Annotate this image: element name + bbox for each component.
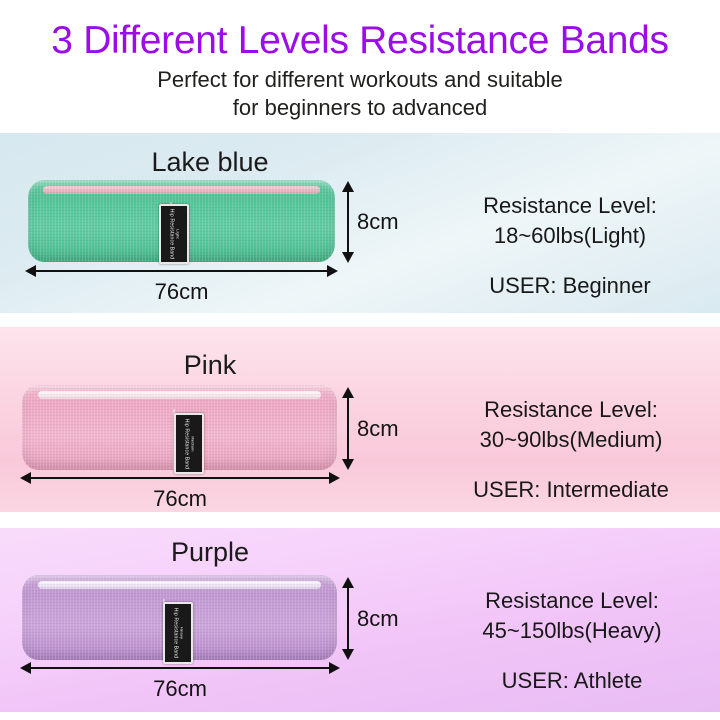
length-dimension-label: 76cm [25,278,338,306]
product-color-name-purple: Purple [90,536,330,568]
product-tag-text: Medium Hip Resistance Band [182,418,196,469]
resistance-value: 18~60lbs(Light) [430,221,710,251]
product-section-pink: Pink Medium Hip Resistance Band 8cm 76 [0,327,720,512]
header: 3 Different Levels Resistance Bands Perf… [0,0,720,133]
product-tag-level: Medium [189,418,196,469]
subtitle-line-2: for beginners to advanced [0,94,720,122]
resistance-value: 45~150lbs(Heavy) [428,616,716,646]
product-tag-brand: Hip Resistance Band [183,418,189,469]
product-tag-lake-blue: Light Hip Resistance Band [159,204,189,264]
infographic-page: 3 Different Levels Resistance Bands Perf… [0,0,720,720]
band-lining [38,581,322,590]
product-tag-level: Light [174,209,181,260]
width-dimension-label: 8cm [357,416,399,442]
width-dimension-label: 8cm [357,209,399,235]
band-image-purple: Heavy Hip Resistance Band [22,575,337,660]
product-tag-pink: Medium Hip Resistance Band [174,413,204,474]
dimension-line [347,394,349,463]
arrow-down-icon [342,649,354,660]
width-dimension-pink: 8cm [341,387,355,470]
dimension-line [347,188,349,256]
resistance-heading: Resistance Level: [430,191,710,221]
arrow-down-icon [342,459,354,470]
dimension-line [347,584,349,653]
product-section-lake-blue: Lake blue Light Hip Resistance Band 8cm [0,133,720,313]
product-tag-level: Heavy [178,608,185,659]
page-title: 3 Different Levels Resistance Bands [0,18,720,64]
user-level: USER: Beginner [430,271,710,301]
band-image-pink: Medium Hip Resistance Band [22,385,337,470]
length-dimension-pink: 76cm [20,471,340,485]
product-color-name-pink: Pink [90,349,330,381]
dimension-line [27,667,333,669]
page-subtitle: Perfect for different workouts and suita… [0,66,720,122]
arrow-right-icon [327,265,338,277]
product-tag-text: Heavy Hip Resistance Band [171,608,185,659]
product-tag-brand: Hip Resistance Band [172,608,178,659]
product-info-purple: Resistance Level: 45~150lbs(Heavy) USER:… [428,586,716,696]
product-info-lake-blue: Resistance Level: 18~60lbs(Light) USER: … [430,191,710,301]
user-level: USER: Intermediate [425,475,717,505]
subtitle-line-1: Perfect for different workouts and suita… [157,67,563,92]
user-level: USER: Athlete [428,666,716,696]
band-lining [38,391,322,400]
width-dimension-label: 8cm [357,606,399,632]
length-dimension-label: 76cm [20,675,340,703]
resistance-heading: Resistance Level: [428,586,716,616]
length-dimension-label: 76cm [20,485,340,512]
resistance-heading: Resistance Level: [425,395,717,425]
dimension-line [32,270,331,272]
product-tag-brand: Hip Resistance Band [168,209,174,260]
product-tag-text: Light Hip Resistance Band [167,209,181,260]
resistance-value: 30~90lbs(Medium) [425,425,717,455]
width-dimension-lake-blue: 8cm [341,181,355,263]
product-tag-purple: Heavy Hip Resistance Band [163,602,193,664]
length-dimension-purple: 76cm [20,661,340,675]
product-info-pink: Resistance Level: 30~90lbs(Medium) USER:… [425,395,717,505]
length-dimension-lake-blue: 76cm [25,264,338,278]
product-section-purple: Purple Heavy Hip Resistance Band 8cm 7 [0,528,720,712]
band-image-lake-blue: Light Hip Resistance Band [28,180,335,262]
dimension-line [27,477,333,479]
width-dimension-purple: 8cm [341,577,355,660]
arrow-right-icon [329,662,340,674]
arrow-down-icon [342,252,354,263]
product-color-name-lake-blue: Lake blue [90,146,330,178]
band-lining [43,186,319,194]
arrow-right-icon [329,472,340,484]
